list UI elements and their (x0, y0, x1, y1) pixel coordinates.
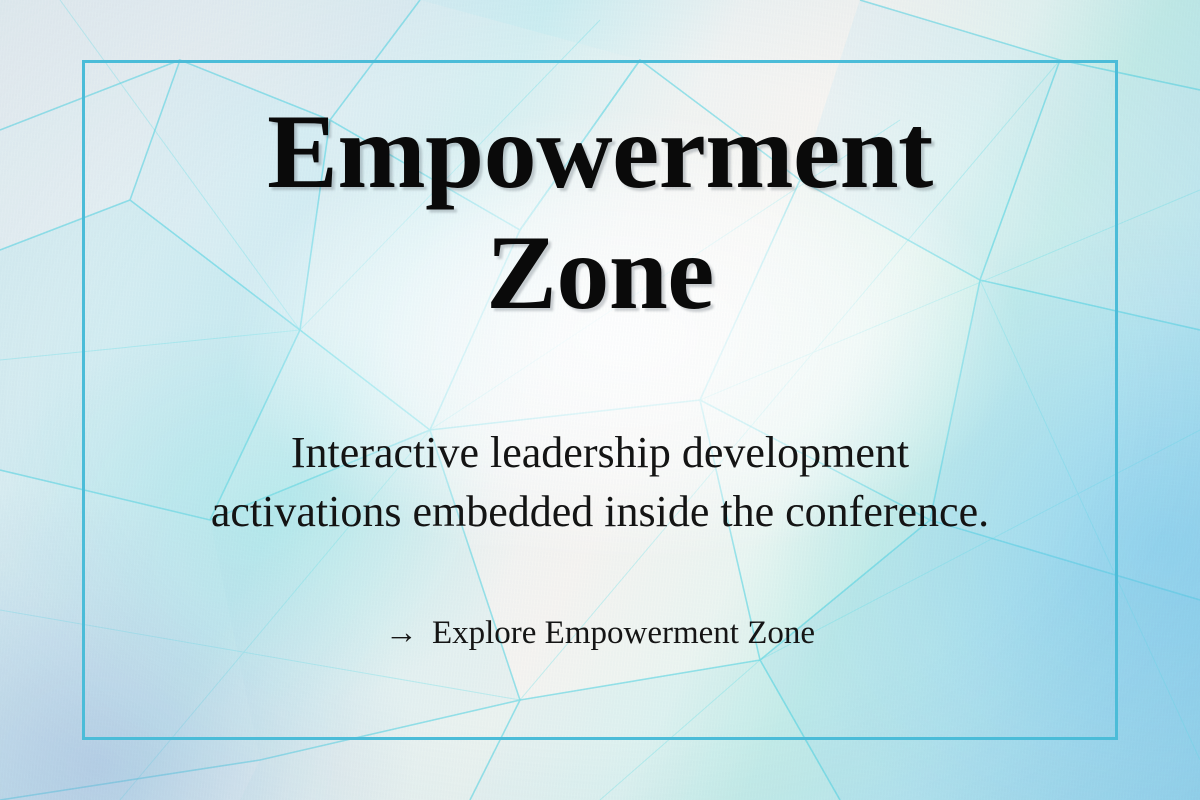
subtitle-text: Interactive leadership development activ… (96, 423, 1104, 542)
page-title: Empowerment Zone (110, 92, 1090, 334)
subtitle-line-1: Interactive leadership development (291, 428, 909, 477)
arrow-right-icon: → (385, 617, 418, 650)
subtitle-line-2: activations embedded inside the conferen… (211, 487, 989, 536)
slide-canvas: Empowerment Zone Interactive leadership … (0, 0, 1200, 800)
title-line-1: Empowerment (267, 93, 933, 210)
title-line-2: Zone (486, 214, 714, 331)
slide-content: Empowerment Zone Interactive leadership … (0, 0, 1200, 800)
cta-label: Explore Empowerment Zone (432, 614, 815, 654)
explore-empowerment-zone-link[interactable]: → Explore Empowerment Zone (96, 614, 1104, 654)
